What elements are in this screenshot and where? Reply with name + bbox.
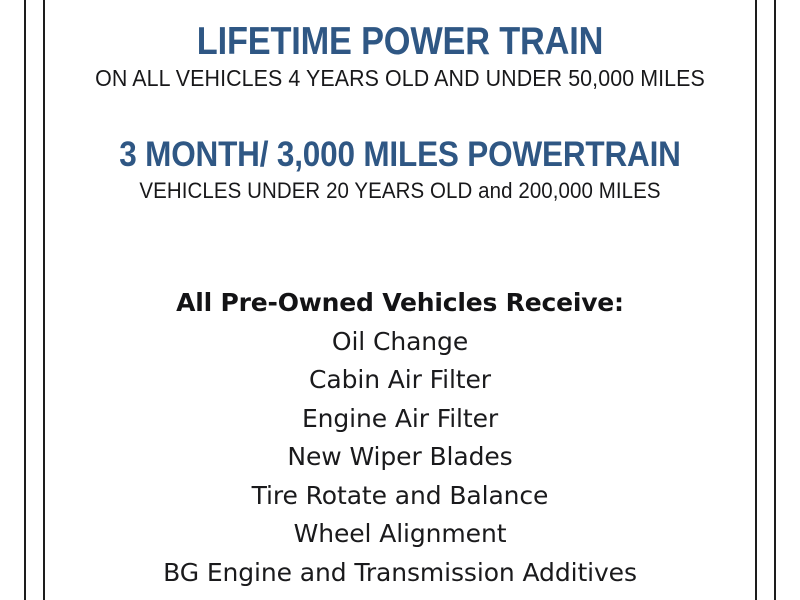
warranty-subhead-three-month: VEHICLES UNDER 20 YEARS OLD and 200,000 … — [70, 179, 730, 204]
services-section: All Pre-Owned Vehicles Receive: Oil Chan… — [45, 288, 755, 593]
service-item: Tire Rotate and Balance — [45, 477, 755, 516]
service-item: New Wiper Blades — [45, 438, 755, 477]
service-item: Engine Air Filter — [45, 400, 755, 439]
services-list: Oil Change Cabin Air Filter Engine Air F… — [45, 323, 755, 593]
warranty-headline-three-month: 3 MONTH/ 3,000 MILES POWERTRAIN — [81, 136, 720, 173]
warranty-subhead-lifetime: ON ALL VEHICLES 4 YEARS OLD AND UNDER 50… — [70, 66, 730, 92]
warranty-block-lifetime: LIFETIME POWER TRAIN ON ALL VEHICLES 4 Y… — [45, 0, 755, 92]
service-item: Cabin Air Filter — [45, 361, 755, 400]
service-item: Oil Change — [45, 323, 755, 362]
warranty-block-three-month: 3 MONTH/ 3,000 MILES POWERTRAIN VEHICLES… — [45, 92, 755, 204]
border-rule-right-inner — [755, 0, 757, 600]
service-item: BG Engine and Transmission Additives — [45, 554, 755, 593]
service-item: Wheel Alignment — [45, 515, 755, 554]
border-rule-right-outer — [774, 0, 776, 600]
flyer-content: LIFETIME POWER TRAIN ON ALL VEHICLES 4 Y… — [45, 0, 755, 600]
warranty-flyer: LIFETIME POWER TRAIN ON ALL VEHICLES 4 Y… — [0, 0, 800, 600]
warranty-headline-lifetime: LIFETIME POWER TRAIN — [88, 21, 713, 62]
border-rule-left-outer — [24, 0, 26, 600]
services-title: All Pre-Owned Vehicles Receive: — [45, 288, 755, 318]
